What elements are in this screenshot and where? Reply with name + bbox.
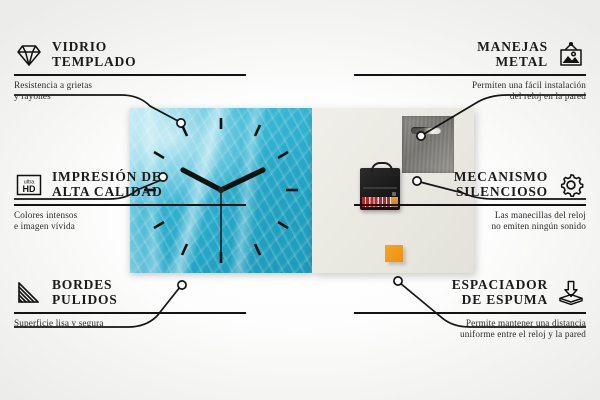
feature-header: ESPACIADOR DE ESPUMA [354,278,586,307]
feature-header: MECANISMO SILENCIOSO [354,170,586,199]
arrow-onto-foam-icon [556,279,586,307]
feature-title: MANEJAS METAL [477,40,548,69]
feature-title: BORDES PULIDOS [52,278,118,307]
feature-subtitle: Las manecillas del reloj no emiten ningú… [354,210,586,233]
feature-title: ESPACIADOR DE ESPUMA [452,278,548,307]
feature-divider [354,312,586,314]
feature-header: BORDES PULIDOS [14,278,246,307]
feature-bordes-pulidos: BORDES PULIDOS Superficie lisa y segura [14,278,246,329]
foam-spacer [385,245,403,262]
feature-subtitle: Permiten una fácil instalación del reloj… [354,80,586,103]
feature-subtitle: Superficie lisa y segura [14,318,246,330]
feature-subtitle: Permite mantener una distancia uniforme … [354,318,586,341]
infographic-canvas: VIDRIO TEMPLADO Resistencia a grietas y … [0,0,600,400]
feature-header: VIDRIO TEMPLADO [14,40,246,69]
feature-vidrio-templado: VIDRIO TEMPLADO Resistencia a grietas y … [14,40,246,103]
feature-subtitle: Colores intensos e imagen vívida [14,210,246,233]
feature-title: MECANISMO SILENCIOSO [454,170,548,199]
polished-edges-icon [14,279,44,307]
svg-text:HD: HD [23,184,36,194]
feature-impresion-alta-calidad: ultra HD IMPRESIÓN DE ALTA CALIDAD Color… [14,170,246,233]
diamond-icon [14,41,44,69]
feature-divider [354,74,586,76]
feature-divider [354,204,586,206]
picture-frame-hanging-icon [556,41,586,69]
feature-espaciador-de-espuma: ESPACIADOR DE ESPUMA Permite mantener un… [354,278,586,341]
hanger-plate [402,116,454,173]
hanger-keyhole-slot [411,127,441,134]
feature-title: IMPRESIÓN DE ALTA CALIDAD [52,170,163,199]
feature-divider [14,204,246,206]
feature-header: MANEJAS METAL [354,40,586,69]
feature-divider [14,312,246,314]
feature-mecanismo-silencioso: MECANISMO SILENCIOSO Las manecillas del … [354,170,586,233]
feature-manejas-metal: MANEJAS METAL Permiten una fácil instala… [354,40,586,103]
feature-header: ultra HD IMPRESIÓN DE ALTA CALIDAD [14,170,246,199]
gear-icon [556,171,586,199]
feature-title: VIDRIO TEMPLADO [52,40,136,69]
feature-divider [14,74,246,76]
feature-subtitle: Resistencia a grietas y rayones [14,80,246,103]
ultra-hd-icon: ultra HD [14,171,44,199]
